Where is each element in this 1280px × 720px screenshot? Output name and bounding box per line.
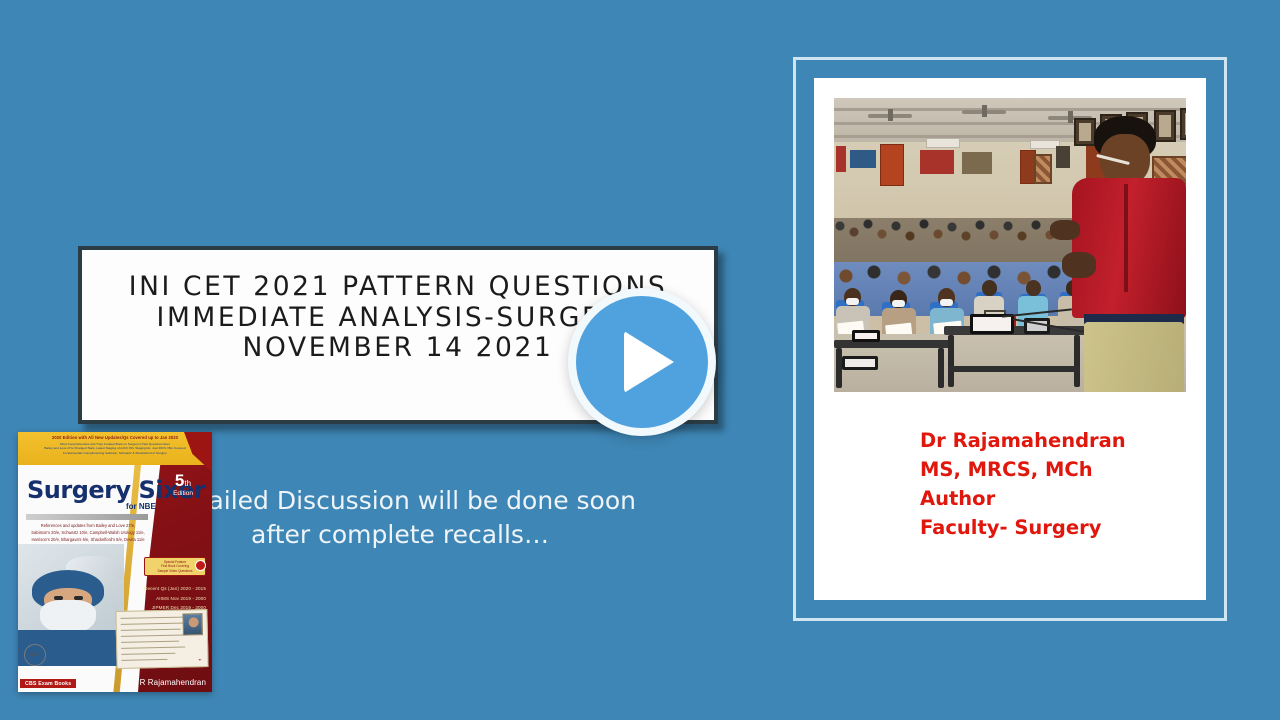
book-divider-rule bbox=[26, 514, 148, 520]
play-triangle bbox=[624, 331, 674, 393]
play-icon[interactable] bbox=[568, 288, 716, 436]
book-band-subtext: Most Comprehensive and Truly Curated Boo… bbox=[22, 442, 208, 455]
book-edition-word: Edition bbox=[160, 491, 206, 498]
book-edition-badge: 5th Edition bbox=[160, 472, 206, 498]
book-author-photo bbox=[182, 613, 202, 635]
book-author-name: R Rajamahendran bbox=[140, 678, 206, 687]
book-publisher-mark: CBS bbox=[24, 644, 46, 666]
book-edition-suffix: th bbox=[184, 479, 191, 488]
book-top-band: 2020 Edition with All New Updates/Qs Cov… bbox=[18, 432, 212, 465]
speaker-panel-inner: Dr Rajamahendran MS, MRCS, MCh Author Fa… bbox=[814, 78, 1206, 600]
speaker-panel: Dr Rajamahendran MS, MRCS, MCh Author Fa… bbox=[793, 57, 1227, 621]
book-cover-surgery-sixer: 2020 Edition with All New Updates/Qs Cov… bbox=[18, 432, 212, 692]
photo-speaker-figure bbox=[1066, 116, 1186, 392]
book-edition-number: 5 bbox=[175, 471, 184, 490]
book-subtitle: for NBE bbox=[126, 502, 156, 511]
book-references: References and updates from Bailey and L… bbox=[24, 522, 152, 543]
book-special-dot bbox=[195, 560, 206, 571]
speaker-credit: Dr Rajamahendran MS, MRCS, MCh Author Fa… bbox=[834, 426, 1186, 542]
book-publisher-badge: CBS Exam Books bbox=[20, 679, 76, 688]
video-slide: INI CET 2021 PATTERN QUESTIONS IMMEDIATE… bbox=[0, 0, 1280, 720]
book-band-headline: 2020 Edition with All New Updates/Qs Cov… bbox=[24, 435, 206, 440]
book-testimonial-note: ✒ bbox=[115, 609, 208, 669]
book-signature: ✒ bbox=[198, 657, 201, 662]
lecture-hall-photo bbox=[834, 98, 1186, 392]
